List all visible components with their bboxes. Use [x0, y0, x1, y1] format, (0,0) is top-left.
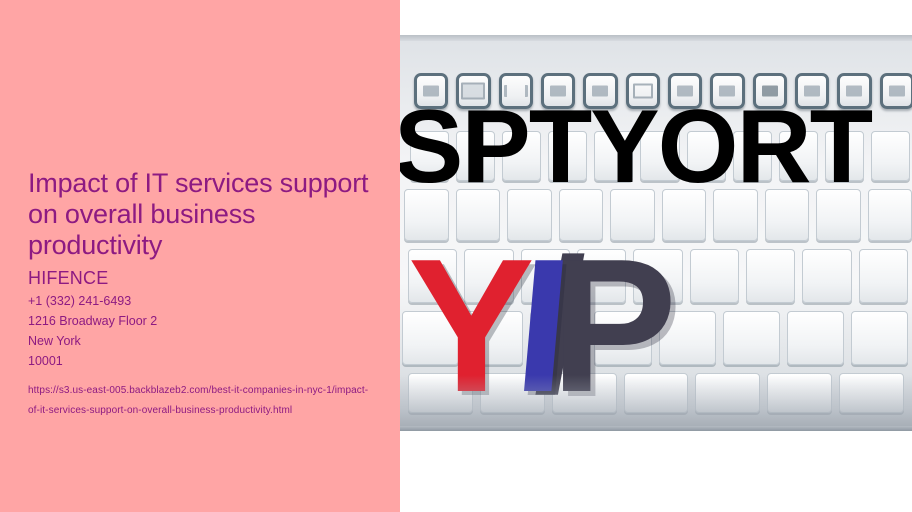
company-name: HIFENCE: [28, 267, 373, 289]
page-title: Impact of IT services support on overall…: [28, 168, 373, 261]
letter-y: Y: [408, 231, 525, 421]
letter-p: P: [550, 231, 667, 421]
street-address: 1216 Broadway Floor 2: [28, 311, 373, 331]
city: New York: [28, 331, 373, 351]
postal-code: 10001: [28, 351, 373, 371]
photo-headline-word: SPTYORT: [400, 95, 912, 199]
photo-vip-letters: YI/P: [408, 231, 912, 421]
document-page: Impact of IT services support on overall…: [0, 0, 912, 512]
image-panel: SPTYORT YI/P: [400, 0, 912, 512]
keyboard-bottom-edge: [400, 426, 912, 431]
keyboard-photo: SPTYORT YI/P: [400, 35, 912, 431]
phone-number: +1 (332) 241-6493: [28, 291, 373, 311]
info-panel: Impact of IT services support on overall…: [0, 0, 400, 512]
source-url[interactable]: https://s3.us-east-005.backblazeb2.com/b…: [28, 381, 373, 421]
text-block: Impact of IT services support on overall…: [28, 168, 373, 421]
